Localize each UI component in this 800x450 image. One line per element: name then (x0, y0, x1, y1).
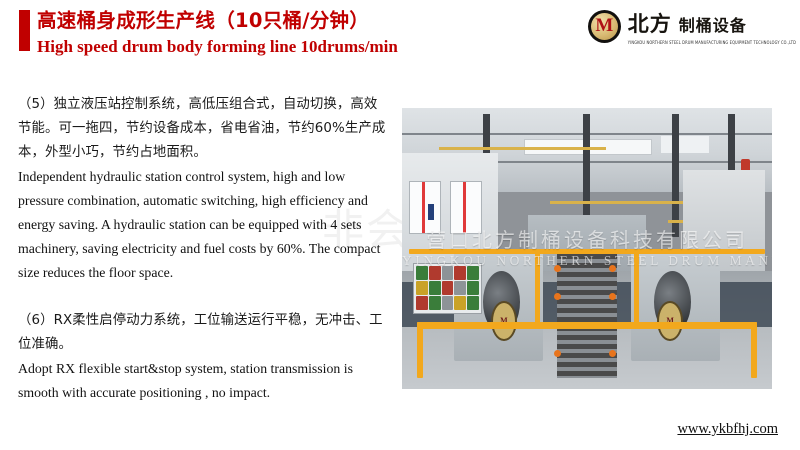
photo-skylight-secondary (661, 136, 709, 153)
logo-english-subtitle: YINGKOU NORTHERN STEEL DRUM MANUFACTURIN… (628, 40, 796, 45)
logo-chinese-row: 北方 制桶设备 (628, 8, 796, 38)
paragraph-5-en-line-3: energy saving. A hydraulic station can b… (18, 213, 393, 237)
page-title-chinese: 高速桶身成形生产线（10只桶/分钟） (37, 8, 398, 33)
photo-operator-panel (413, 263, 482, 314)
paragraph-5-en-line-4: machinery, saving electricity and fuel c… (18, 237, 393, 261)
photo-overhead-pipe-1 (439, 147, 606, 150)
photo-panel-button (416, 266, 428, 280)
photo-conveyor-chain (557, 254, 616, 378)
photo-yellow-rail-lower (417, 322, 757, 329)
photo-yellow-post-right (751, 322, 757, 378)
photo-window-1 (409, 181, 441, 234)
page-header: 高速桶身成形生产线（10只桶/分钟） High speed drum body … (0, 0, 800, 80)
paragraph-5-cn-line-2: 节能。可一拖四，节约设备成本，省电省油，节约60%生产成 (18, 117, 393, 141)
logo-brand-primary: 北方 (628, 8, 672, 38)
photo-yellow-post-center-left (535, 249, 540, 328)
logo-brand-secondary: 制桶设备 (679, 12, 747, 36)
photo-panel-button (454, 266, 466, 280)
paragraph-5: （5）独立液压站控制系统，高低压组合式，自动切换，高效 节能。可一拖四，节约设备… (18, 93, 393, 285)
photo-panel-button (442, 281, 454, 295)
photo-panel-button (467, 266, 479, 280)
photo-illustration: M M (402, 108, 772, 389)
logo-wordmark: 北方 制桶设备 YINGKOU NORTHERN STEEL DRUM MANU… (628, 8, 796, 44)
paragraph-6-cn-line-2: 位准确。 (18, 333, 393, 357)
photo-yellow-rail-upper (409, 249, 764, 254)
paragraph-5-en-line-1: Independent hydraulic station control sy… (18, 165, 393, 189)
paragraph-6-en-line-1: Adopt RX flexible start&stop system, sta… (18, 357, 393, 381)
photo-panel-button (454, 296, 466, 310)
photo-column-3 (672, 114, 679, 238)
photo-worker (428, 204, 434, 220)
photo-yellow-post-left (417, 322, 423, 378)
photo-hub-badge-left: M (491, 301, 517, 342)
footer-website-url[interactable]: www.ykbfhj.com (677, 421, 778, 438)
photo-panel-button (442, 266, 454, 280)
paragraph-5-en-line-5: size reduces the floor space. (18, 261, 393, 285)
photo-panel-button (416, 296, 428, 310)
company-logo: M 北方 制桶设备 YINGKOU NORTHERN STEEL DRUM MA… (588, 6, 796, 46)
photo-chain-roller-8 (609, 350, 616, 357)
logo-medallion-icon: M (588, 10, 621, 43)
photo-panel-button (467, 296, 479, 310)
production-line-photo: M M (402, 108, 772, 389)
page-title: 高速桶身成形生产线（10只桶/分钟） High speed drum body … (37, 8, 398, 59)
photo-yellow-post-center-right (634, 249, 639, 328)
content-text-column: （5）独立液压站控制系统，高低压组合式，自动切换，高效 节能。可一拖四，节约设备… (18, 93, 393, 405)
photo-panel-button (429, 281, 441, 295)
paragraph-6-cn-line-1: （6）RX柔性启停动力系统，工位输送运行平稳，无冲击、工 (18, 309, 393, 333)
paragraph-5-en-line-2: pressure combination, automatic switchin… (18, 189, 393, 213)
photo-panel-button (429, 266, 441, 280)
photo-panel-button (416, 281, 428, 295)
paragraph-6: （6）RX柔性启停动力系统，工位输送运行平稳，无冲击、工 位准确。 Adopt … (18, 309, 393, 405)
photo-panel-button (467, 281, 479, 295)
photo-panel-button (454, 281, 466, 295)
paragraph-5-cn-line-1: （5）独立液压站控制系统，高低压组合式，自动切换，高效 (18, 93, 393, 117)
logo-letter-m: M (595, 16, 613, 35)
photo-window-2 (450, 181, 482, 234)
photo-panel-button (442, 296, 454, 310)
paragraph-5-cn-line-3: 本，外型小巧，节约占地面积。 (18, 141, 393, 165)
paragraph-6-en-line-2: smooth with accurate positioning , no im… (18, 381, 393, 405)
photo-chain-roller-7 (554, 350, 561, 357)
paragraph-spacer (18, 285, 393, 309)
title-accent-bar (19, 10, 30, 51)
page-title-english: High speed drum body forming line 10drum… (37, 35, 398, 59)
photo-panel-button (429, 296, 441, 310)
